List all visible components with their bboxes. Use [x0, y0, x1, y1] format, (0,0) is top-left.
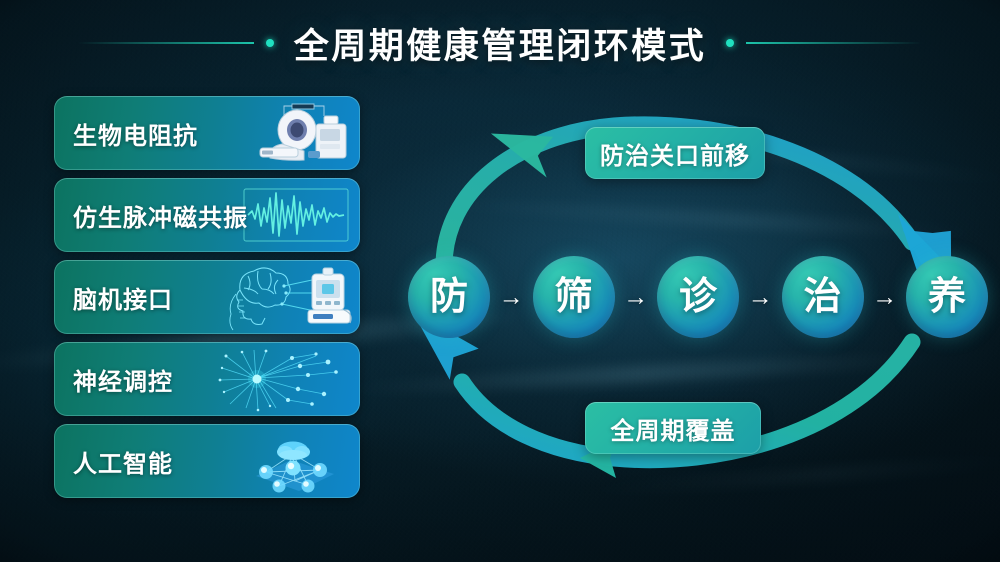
tech-card-neuromodulation[interactable]: 神经调控 — [54, 342, 360, 416]
title-rule-left-icon — [78, 38, 274, 48]
tech-card-label: 生物电阻抗 — [54, 116, 198, 151]
ct-scanner-icon — [196, 96, 356, 170]
tech-card-bioimpedance[interactable]: 生物电阻抗 — [54, 96, 360, 170]
stage-node-label: 诊 — [679, 278, 717, 316]
stage-node-label: 养 — [928, 278, 966, 316]
tech-card-pulsed-magnetic[interactable]: 仿生脉冲磁共振 — [54, 178, 360, 252]
pill-prevention-forward[interactable]: 防治关口前移 — [585, 127, 765, 179]
stage-arrow-4-icon: → — [872, 285, 897, 310]
stage-node-zhen[interactable]: 诊 — [657, 256, 739, 338]
stage-arrow-2-icon: → — [623, 285, 648, 310]
tech-card-label: 人工智能 — [54, 444, 173, 479]
tech-card-brain-computer-interface[interactable]: 脑机接口 — [54, 260, 360, 334]
stage-node-label: 治 — [803, 278, 841, 316]
closed-loop-diagram: 防治关口前移 全周期覆盖 防 → 筛 → 诊 → 治 → 养 — [400, 92, 1000, 492]
page-title-bar: 全周期健康管理闭环模式 — [0, 18, 1000, 68]
stage-node-label: 防 — [430, 278, 468, 316]
stage-node-yang[interactable]: 养 — [906, 256, 988, 338]
tech-card-label: 脑机接口 — [54, 280, 173, 315]
pill-full-cycle-coverage[interactable]: 全周期覆盖 — [585, 402, 761, 454]
stage-node-zhi[interactable]: 治 — [782, 256, 864, 338]
pill-label: 防治关口前移 — [600, 136, 750, 171]
stage-node-label: 筛 — [554, 278, 592, 316]
stage-node-shai[interactable]: 筛 — [533, 256, 615, 338]
neural-network-burst-icon — [196, 342, 356, 416]
tech-card-label: 仿生脉冲磁共振 — [54, 198, 248, 233]
page-title: 全周期健康管理闭环模式 — [274, 18, 727, 69]
arrow-head-top-left — [491, 104, 571, 185]
pill-label: 全周期覆盖 — [611, 411, 736, 446]
tech-card-artificial-intelligence[interactable]: 人工智能 — [54, 424, 360, 498]
stage-arrow-1-icon: → — [499, 285, 524, 310]
stage-node-row: 防 → 筛 → 诊 → 治 → 养 — [408, 252, 988, 342]
brain-interface-icon — [196, 260, 356, 334]
stage-arrow-3-icon: → — [748, 285, 773, 310]
ai-nodes-icon — [196, 424, 356, 498]
slide-canvas: 全周期健康管理闭环模式 生物电阻抗 — [0, 0, 1000, 562]
stage-node-fang[interactable]: 防 — [408, 256, 490, 338]
title-rule-right-icon — [726, 38, 922, 48]
tech-card-label: 神经调控 — [54, 362, 173, 397]
technology-card-list: 生物电阻抗 — [54, 96, 360, 506]
